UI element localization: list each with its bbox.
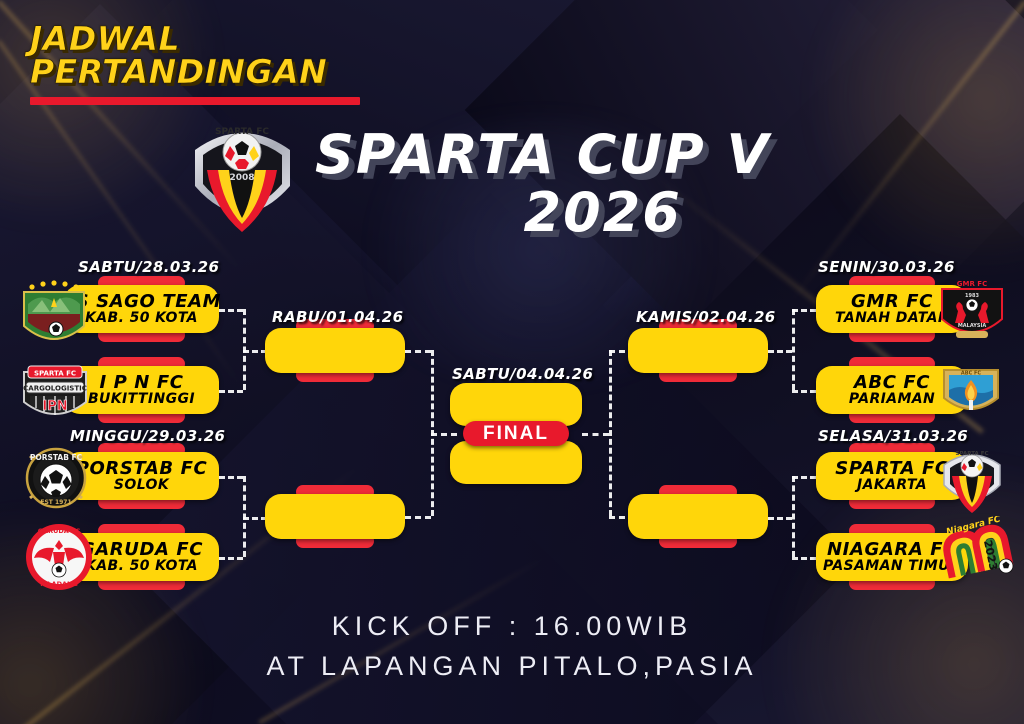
team-region: KAB. 50 KOTA	[85, 559, 198, 573]
svg-text:ABC FC: ABC FC	[961, 371, 982, 377]
team-name: GARUDA FC	[80, 541, 203, 559]
connector	[243, 350, 267, 353]
connector	[792, 476, 816, 479]
header-underline	[30, 97, 360, 105]
venue-text: AT LAPANGAN PITALO,PASIA	[0, 646, 1024, 686]
header-line-1: JADWAL	[30, 22, 360, 55]
connector	[405, 516, 431, 519]
connector	[219, 309, 243, 312]
tournament-bracket-poster: JADWAL PERTANDINGAN SPARTA FC 2008	[0, 0, 1024, 724]
team-name: SPARTA FC	[835, 460, 948, 478]
team-region: BUKITTINGGI	[88, 392, 195, 406]
poster-header: JADWAL PERTANDINGAN	[30, 22, 360, 105]
svg-text:SPARTA FC: SPARTA FC	[215, 127, 269, 137]
connector	[768, 517, 792, 520]
connector	[792, 390, 816, 393]
svg-text:PILADANG: PILADANG	[40, 580, 78, 588]
team-region: JAKARTA	[857, 478, 927, 492]
svg-text:1983: 1983	[965, 293, 979, 299]
date-left-match1: SABTU/28.03.26	[78, 258, 219, 276]
svg-text:IPN: IPN	[42, 399, 67, 414]
poster-footer: KICK OFF : 16.00WIB AT LAPANGAN PITALO,P…	[0, 606, 1024, 686]
semifinal-slot-right-bottom[interactable]	[628, 494, 768, 539]
abc-fc-logo-icon: ABC FC	[938, 360, 1004, 429]
ipn-fc-logo-icon: SPARTA FC CARGOLOGISTIC IPN	[18, 358, 92, 435]
connector	[405, 350, 431, 353]
team-name: GMR FC	[851, 293, 933, 311]
team-name: NIAGARA FC	[827, 541, 957, 559]
semifinal-slot-left-top[interactable]	[265, 328, 405, 373]
connector	[609, 350, 612, 516]
svg-text:GMR FC: GMR FC	[957, 280, 987, 288]
title-main: SPARTA CUP V	[315, 126, 770, 184]
title-year: 2026	[315, 184, 770, 242]
poster-title: SPARTA CUP V 2026	[315, 126, 770, 242]
svg-text:SPARTA FC: SPARTA FC	[34, 370, 76, 378]
header-line-2: PERTANDINGAN	[30, 55, 360, 88]
date-right-semifinal: KAMIS/02.04.26	[636, 308, 776, 326]
svg-text:SPARTA FC: SPARTA FC	[955, 451, 988, 457]
porstab-fc-logo-icon: PORSTAB FC EST 1971	[18, 442, 94, 521]
semifinal-slot-left-bottom[interactable]	[265, 494, 405, 539]
gmr-fc-logo-icon: GMR FC 1983 MALAYSIA	[934, 275, 1010, 354]
niagara-fc-logo-icon: 2023 Niagara FC	[940, 516, 1014, 593]
date-right-match1: SENIN/30.03.26	[818, 258, 955, 276]
connector	[431, 433, 457, 436]
connector	[768, 350, 792, 353]
team-region: KAB. 50 KOTA	[85, 311, 198, 325]
connector	[243, 517, 267, 520]
svg-text:MALAYSIA: MALAYSIA	[958, 323, 987, 329]
sparta-fc-crest-icon: SPARTA FC 2008	[185, 108, 300, 248]
final-slot-top[interactable]	[450, 383, 582, 426]
connector	[792, 309, 816, 312]
semifinal-slot-right-top[interactable]	[628, 328, 768, 373]
team-name: PORSTAB FC	[76, 460, 208, 478]
team-name: I P N FC	[99, 374, 183, 392]
sparta-fc-logo-icon: SPARTA FC	[938, 443, 1006, 522]
final-slot-bottom[interactable]	[450, 441, 582, 484]
svg-text:CARGOLOGISTIC: CARGOLOGISTIC	[23, 385, 87, 393]
date-left-semifinal: RABU/01.04.26	[272, 308, 403, 326]
connector	[792, 476, 795, 557]
svg-text:PORSTAB FC: PORSTAB FC	[30, 453, 83, 462]
date-final: SABTU/04.04.26	[452, 365, 593, 383]
team-region: SOLOK	[114, 478, 169, 492]
final-badge-label: FINAL	[483, 423, 549, 445]
garuda-fc-logo-icon: GARUDA FC PILADANG	[24, 522, 94, 597]
ps-sago-team-logo-icon	[16, 276, 92, 361]
team-region: PARIAMAN	[849, 392, 935, 406]
connector	[582, 433, 609, 436]
connector	[219, 476, 243, 479]
final-badge: FINAL	[463, 421, 569, 446]
svg-text:2008: 2008	[229, 173, 254, 183]
connector	[219, 390, 243, 393]
team-name: ABC FC	[854, 374, 930, 392]
connector	[792, 309, 795, 390]
connector	[219, 557, 243, 560]
connector	[792, 557, 816, 560]
svg-text:GARUDA FC: GARUDA FC	[38, 527, 81, 535]
kickoff-text: KICK OFF : 16.00WIB	[0, 606, 1024, 646]
svg-text:EST 1971: EST 1971	[40, 499, 71, 506]
team-region: TANAH DATAR	[835, 311, 949, 325]
